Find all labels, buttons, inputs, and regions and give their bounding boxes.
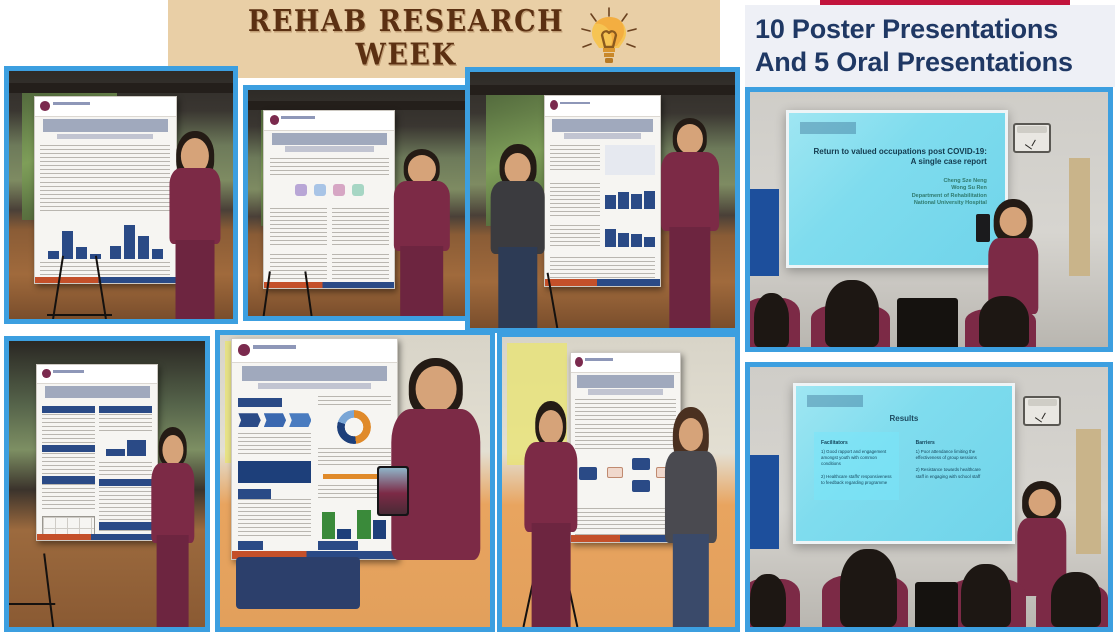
person-figure [486,144,550,328]
barriers-item: 1) Poor attendance limiting the effectiv… [916,449,987,462]
lightbulb-icon [578,7,640,71]
barriers-item: 2) Resistance towards healthcare staff i… [916,467,987,480]
presentation-slide: REHAB RESEARCH WEEK 10 Poster Presentat [0,0,1115,638]
photo-oral-presentation-covid: Return to valued occupations post COVID-… [745,87,1113,352]
person-figure [656,118,725,328]
heading-line-posters: 10 Poster Presentations [755,13,1115,46]
photo-poster-two-presenters [465,67,740,333]
facilitators-item: 1) Good rapport and engagement amongst y… [821,449,892,468]
phone-with-video-call [377,466,409,516]
facilitators-column: Facilitators 1) Good rapport and engagem… [814,432,900,499]
person-figure [161,131,228,319]
photo-poster-communication [4,66,238,324]
person-figure [146,427,199,627]
photo-poster-social-participation [243,85,473,321]
photo-poster-pulmonary-rehab [215,330,495,632]
audience [750,544,1108,627]
barriers-label: Barriers [916,440,987,446]
person-figure [387,149,457,316]
audience [750,265,1108,347]
photo-poster-stroke-outcomes [4,336,210,632]
slide-heading: Results [814,414,994,423]
nuh-logo [807,395,863,407]
projected-slide-covid: Return to valued occupations post COVID-… [786,110,1008,268]
projected-slide-results: Results Facilitators 1) Good rapport and… [793,383,1015,544]
slide-title: Return to valued occupations post COVID-… [807,147,987,167]
person-figure [660,407,721,627]
banner-title: REHAB RESEARCH WEEK [248,5,564,73]
slide-author-1: Cheng Sze Neng [807,178,987,185]
slide-authors: Cheng Sze Neng Wong Su Ren Department of… [807,178,987,208]
microphone-icon [976,214,990,242]
wall-clock-icon [1023,396,1061,426]
slide-affiliation-org: National University Hospital [807,200,987,207]
slide-author-2: Wong Su Ren [807,185,987,192]
wall-clock-icon [1013,123,1051,153]
person-figure [521,401,582,627]
heading-line-orals: And 5 Oral Presentations [755,46,1115,79]
nuh-logo [800,122,856,134]
barriers-column: Barriers 1) Poor attendance limiting the… [908,432,994,499]
photo-poster-clinic-pair [497,332,740,632]
slide-affiliation-dept: Department of Rehabilitation [807,193,987,200]
photo-oral-presentation-results: Results Facilitators 1) Good rapport and… [745,362,1113,632]
banner-title-line1: REHAB RESEARCH [248,4,564,39]
facilitators-item: 2) Healthcare staffs' responsiveness to … [821,474,892,487]
presentation-count-heading: 10 Poster Presentations And 5 Oral Prese… [745,5,1115,87]
facilitators-label: Facilitators [821,440,892,446]
